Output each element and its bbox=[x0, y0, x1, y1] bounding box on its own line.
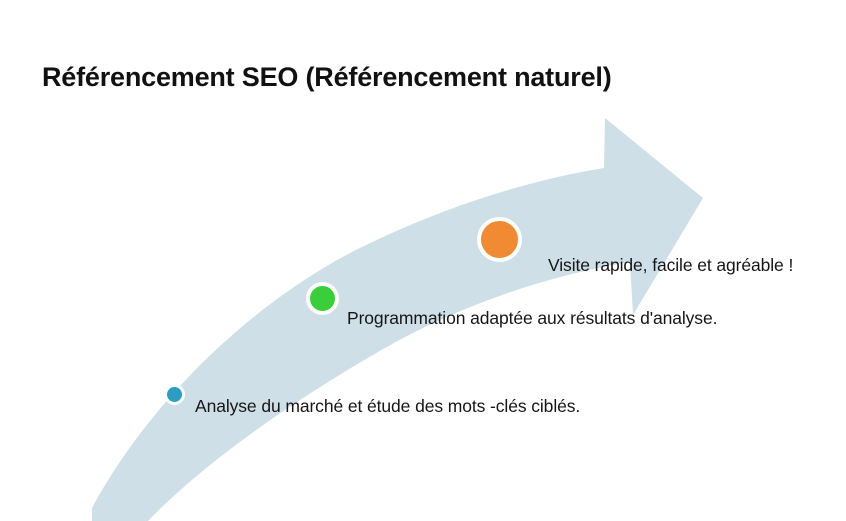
page-title: Référencement SEO (Référencement naturel… bbox=[42, 62, 611, 93]
step-label-programmation: Programmation adaptée aux résultats d'an… bbox=[347, 308, 717, 329]
step-marker-visite[interactable] bbox=[477, 217, 522, 262]
step-marker-analyse[interactable] bbox=[164, 384, 185, 405]
step-marker-programmation[interactable] bbox=[306, 282, 339, 315]
step-label-visite: Visite rapide, facile et agréable ! bbox=[548, 255, 793, 276]
slide-canvas: Référencement SEO (Référencement naturel… bbox=[0, 0, 846, 521]
step-label-analyse: Analyse du marché et étude des mots -clé… bbox=[195, 396, 580, 417]
